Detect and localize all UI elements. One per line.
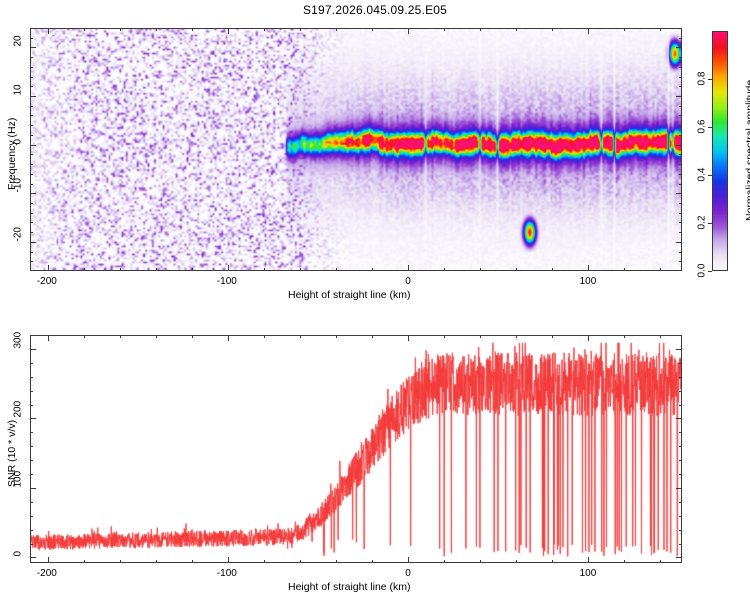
tick-mark: [30, 184, 33, 185]
tick-mark: [444, 335, 445, 338]
tick-mark: [30, 115, 33, 116]
tick-mark: [552, 335, 553, 338]
tick-mark: [679, 106, 682, 107]
tick-mark: [228, 557, 229, 563]
tick-mark: [30, 193, 36, 194]
tick-mark: [679, 115, 682, 116]
colorbar-gradient: [713, 32, 727, 270]
tick-mark: [679, 446, 682, 447]
xtick-label: 100: [580, 276, 597, 287]
tick-mark: [30, 544, 33, 545]
spectrogram-image: [31, 29, 681, 270]
tick-mark: [300, 335, 301, 338]
tick-mark: [408, 335, 409, 341]
tick-mark: [192, 28, 193, 31]
tick-mark: [336, 335, 337, 338]
tick-mark: [552, 268, 553, 271]
tick-mark: [30, 363, 33, 364]
tick-mark: [30, 222, 33, 223]
tick-mark: [30, 213, 33, 214]
tick-mark: [408, 265, 409, 271]
tick-mark: [480, 560, 481, 563]
colorbar-tick-label: 0.0: [697, 264, 708, 278]
snr-trace-line: [31, 336, 681, 562]
tick-mark: [48, 557, 49, 563]
snr-yaxis-label: SNR (10 * v/v): [6, 420, 18, 487]
tick-mark: [30, 77, 33, 78]
tick-mark: [552, 28, 553, 31]
tick-mark: [676, 488, 682, 489]
tick-mark: [84, 335, 85, 338]
tick-mark: [30, 57, 33, 58]
tick-mark: [408, 557, 409, 563]
tick-mark: [676, 418, 682, 419]
tick-mark: [228, 28, 229, 34]
tick-mark: [30, 474, 33, 475]
spectrogram-panel: [30, 28, 682, 271]
tick-mark: [120, 335, 121, 338]
colorbar-label: Normalized spectral amplitude: [744, 80, 750, 221]
tick-mark: [120, 560, 121, 563]
tick-mark: [679, 377, 682, 378]
tick-mark: [679, 363, 682, 364]
tick-mark: [336, 28, 337, 31]
tick-mark: [708, 79, 712, 80]
colorbar-tick-label: 0.6: [697, 120, 708, 134]
tick-mark: [156, 268, 157, 271]
xtick-label: -200: [37, 568, 57, 579]
tick-mark: [372, 335, 373, 338]
tick-mark: [264, 560, 265, 563]
tick-mark: [679, 502, 682, 503]
tick-mark: [444, 268, 445, 271]
tick-mark: [624, 268, 625, 271]
tick-mark: [30, 96, 36, 97]
tick-mark: [30, 67, 33, 68]
tick-mark: [30, 502, 33, 503]
tick-mark: [679, 154, 682, 155]
tick-mark: [228, 265, 229, 271]
tick-mark: [708, 127, 712, 128]
tick-mark: [30, 232, 33, 233]
tick-mark: [30, 174, 33, 175]
snr-xaxis-label: Height of straight line (km): [288, 581, 411, 593]
tick-mark: [30, 261, 33, 262]
tick-mark: [192, 560, 193, 563]
tick-mark: [30, 242, 36, 243]
tick-mark: [676, 47, 682, 48]
tick-mark: [679, 261, 682, 262]
colorbar-tick-label: 0.2: [697, 216, 708, 230]
tick-mark: [30, 432, 33, 433]
tick-mark: [679, 184, 682, 185]
tick-mark: [30, 530, 33, 531]
tick-mark: [30, 154, 33, 155]
xtick-label: -200: [37, 276, 57, 287]
tick-mark: [264, 268, 265, 271]
tick-mark: [679, 125, 682, 126]
tick-mark: [30, 164, 33, 165]
tick-mark: [679, 391, 682, 392]
tick-mark: [679, 38, 682, 39]
tick-mark: [679, 432, 682, 433]
xtick-label: 100: [580, 568, 597, 579]
xtick-label: -100: [217, 276, 237, 287]
tick-mark: [444, 560, 445, 563]
tick-mark: [264, 335, 265, 338]
tick-mark: [708, 223, 712, 224]
tick-mark: [30, 252, 33, 253]
tick-mark: [84, 28, 85, 31]
figure-root: S197.2026.045.09.25.E05 -200-1000100-20-…: [0, 0, 750, 600]
tick-mark: [192, 335, 193, 338]
tick-mark: [30, 377, 33, 378]
tick-mark: [300, 560, 301, 563]
tick-mark: [480, 28, 481, 31]
spectrogram-yaxis-label: Frequency (Hz): [6, 117, 18, 189]
tick-mark: [48, 265, 49, 271]
xtick-label: 0: [405, 568, 411, 579]
tick-mark: [30, 391, 33, 392]
tick-mark: [372, 268, 373, 271]
tick-mark: [679, 174, 682, 175]
colorbar: [712, 31, 728, 271]
tick-mark: [408, 28, 409, 34]
tick-mark: [676, 349, 682, 350]
tick-mark: [588, 335, 589, 341]
tick-mark: [679, 222, 682, 223]
tick-mark: [679, 460, 682, 461]
tick-mark: [120, 28, 121, 31]
tick-mark: [30, 203, 33, 204]
tick-mark: [516, 560, 517, 563]
xtick-label: 0: [405, 276, 411, 287]
tick-mark: [679, 474, 682, 475]
tick-mark: [660, 560, 661, 563]
tick-mark: [156, 335, 157, 338]
tick-mark: [30, 47, 36, 48]
tick-mark: [679, 213, 682, 214]
xtick-label: -100: [217, 568, 237, 579]
tick-mark: [30, 488, 36, 489]
tick-mark: [300, 28, 301, 31]
tick-mark: [30, 38, 33, 39]
tick-mark: [30, 135, 33, 136]
tick-mark: [676, 193, 682, 194]
tick-mark: [676, 96, 682, 97]
spectrogram-xaxis-label: Height of straight line (km): [288, 289, 411, 301]
tick-mark: [676, 145, 682, 146]
tick-mark: [624, 560, 625, 563]
tick-mark: [660, 335, 661, 338]
tick-mark: [228, 335, 229, 341]
tick-mark: [30, 106, 33, 107]
tick-mark: [708, 175, 712, 176]
tick-mark: [679, 405, 682, 406]
tick-mark: [679, 530, 682, 531]
tick-mark: [588, 557, 589, 563]
tick-mark: [679, 57, 682, 58]
tick-mark: [30, 145, 36, 146]
tick-mark: [30, 557, 36, 558]
tick-mark: [30, 86, 33, 87]
tick-mark: [30, 349, 36, 350]
tick-mark: [679, 232, 682, 233]
tick-mark: [480, 335, 481, 338]
tick-mark: [679, 77, 682, 78]
tick-mark: [444, 28, 445, 31]
snr-panel: [30, 335, 682, 563]
tick-mark: [336, 560, 337, 563]
tick-mark: [588, 28, 589, 34]
tick-mark: [84, 268, 85, 271]
tick-mark: [588, 265, 589, 271]
tick-mark: [676, 557, 682, 558]
tick-mark: [552, 560, 553, 563]
tick-mark: [516, 28, 517, 31]
tick-mark: [264, 28, 265, 31]
tick-mark: [679, 544, 682, 545]
colorbar-tick-label: 0.8: [697, 72, 708, 86]
tick-mark: [120, 268, 121, 271]
tick-mark: [660, 28, 661, 31]
tick-mark: [624, 335, 625, 338]
tick-mark: [679, 67, 682, 68]
tick-mark: [30, 516, 33, 517]
tick-mark: [708, 271, 712, 272]
tick-mark: [679, 203, 682, 204]
tick-mark: [30, 125, 33, 126]
tick-mark: [156, 28, 157, 31]
tick-mark: [676, 242, 682, 243]
tick-mark: [624, 28, 625, 31]
tick-mark: [30, 460, 33, 461]
tick-mark: [679, 86, 682, 87]
tick-mark: [30, 418, 36, 419]
tick-mark: [48, 335, 49, 341]
tick-mark: [679, 164, 682, 165]
tick-mark: [372, 560, 373, 563]
colorbar-tick-label: 0.4: [697, 168, 708, 182]
tick-mark: [300, 268, 301, 271]
tick-mark: [679, 135, 682, 136]
tick-mark: [336, 268, 337, 271]
tick-mark: [516, 335, 517, 338]
tick-mark: [84, 560, 85, 563]
tick-mark: [30, 446, 33, 447]
tick-mark: [192, 268, 193, 271]
tick-mark: [480, 268, 481, 271]
figure-title: S197.2026.045.09.25.E05: [0, 3, 750, 17]
tick-mark: [516, 268, 517, 271]
tick-mark: [30, 405, 33, 406]
tick-mark: [372, 28, 373, 31]
tick-mark: [660, 268, 661, 271]
tick-mark: [156, 560, 157, 563]
tick-mark: [679, 516, 682, 517]
tick-mark: [48, 28, 49, 34]
tick-mark: [679, 252, 682, 253]
